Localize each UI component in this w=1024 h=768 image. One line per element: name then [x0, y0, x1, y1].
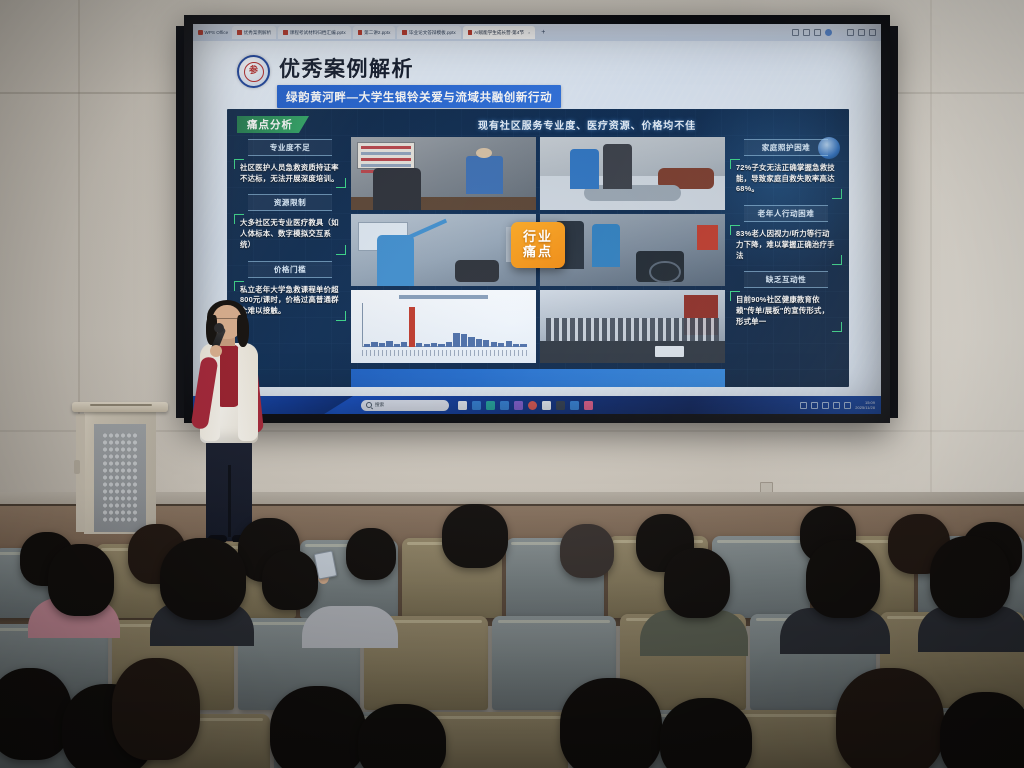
panel-headline: 现有社区服务专业度、医疗资源、价格均不佳 [377, 117, 797, 132]
wps-app-label: WPS Office [205, 30, 229, 35]
pain-point-text: 72%子女无法正确掌握急救技能，导致家庭自救失败率高达68%。 [730, 159, 842, 199]
industry-pain-point-badge: 行业 痛点 [511, 222, 565, 268]
mosaic-photo-bedside [540, 137, 725, 210]
audience-head [560, 524, 614, 578]
audience-head [112, 658, 200, 760]
audience-shoulders [302, 606, 398, 648]
audience-head [560, 678, 662, 768]
pain-point-block: 老年人行动困难 83%老人因视力/听力等行动力下降，难以掌握正确治疗手法 [730, 205, 842, 265]
presentation-file-icon [358, 30, 363, 35]
right-point-column: 家庭照护困难 72%子女无法正确掌握急救技能，导致家庭自救失败率高达68%。 老… [730, 137, 842, 387]
new-tab-button[interactable]: + [537, 29, 549, 36]
lectern-top [72, 402, 168, 412]
audience-head [806, 540, 880, 618]
search-placeholder: 搜索 [375, 402, 384, 408]
audience-head [442, 504, 508, 568]
wps-tab-label: 优秀案例解析 [244, 30, 272, 36]
photo-mosaic-column: 行业 痛点 [351, 137, 725, 387]
search-icon [366, 402, 372, 408]
pain-point-text: 大多社区无专业医疗教具（如人体标本、数字模拟交互系统） [234, 214, 346, 254]
chart-x-labels [362, 350, 527, 356]
pain-point-block: 家庭照护困难 72%子女无法正确掌握急救技能，导致家庭自救失败率高达68%。 [730, 139, 842, 199]
presenter-vest-right [238, 345, 258, 441]
photo-trainer [377, 235, 414, 286]
slide-header: 参 优秀案例解析 绿韵黄河畔—大学生银铃关爱与流域共融创新行动 [193, 41, 881, 103]
wps-icon[interactable] [486, 401, 495, 410]
audience-head [48, 544, 114, 616]
mosaic-photo-wheelchair [540, 214, 725, 287]
mosaic-photo-auditorium [540, 290, 725, 363]
wps-tab-label: 毕业论文答辩模板.pptx [409, 30, 456, 36]
audience-head [262, 550, 318, 610]
pain-point-text: 社区医护人员急救资质持证率不达标，无法开展深度培训。 [234, 159, 346, 188]
audience-head [160, 538, 246, 620]
badge-line-1: 行业 [523, 230, 553, 244]
chart-bars [364, 305, 527, 347]
lecture-hall-photo: WPS Office 优秀案例解析 课程考试材料归档汇编.pptx 第二讲2.p… [0, 0, 1024, 768]
wps-tab-4-active[interactable]: AI赋能学生成长营·第4节 × [463, 26, 536, 39]
app-icon[interactable] [584, 401, 593, 410]
displayed-desktop: WPS Office 优秀案例解析 课程考试材料归档汇编.pptx 第二讲2.p… [193, 24, 881, 414]
edge-icon[interactable] [472, 401, 481, 410]
close-tab-icon[interactable]: × [528, 30, 530, 35]
photo-manikin [455, 260, 499, 282]
seal-inner-text: 参 [244, 62, 264, 82]
photo-banner [697, 225, 717, 250]
cloud-sync-icon[interactable] [803, 29, 810, 36]
pain-point-text: 83%老人因视力/听力等行动力下降，难以掌握正确治疗手法 [730, 225, 842, 265]
window-control-group [792, 29, 881, 36]
account-avatar-icon[interactable] [825, 29, 832, 36]
presentation-file-icon [237, 30, 242, 35]
audience-head [0, 668, 72, 760]
pain-point-block: 缺乏互动性 目前90%社区健康教育依赖"传单/展板"的宣传形式，形式单一 [730, 271, 842, 331]
close-icon[interactable] [869, 29, 876, 36]
settings-icon[interactable] [814, 29, 821, 36]
microphone-head [214, 323, 224, 333]
clock-date: 2025/11/28 [855, 405, 875, 410]
photo-patient [373, 168, 421, 210]
presenter-hand [210, 345, 222, 357]
volume-icon[interactable] [833, 402, 840, 409]
badge-line-2: 痛点 [523, 245, 553, 259]
slide-title: 优秀案例解析 [279, 53, 414, 83]
chart-y-axis [362, 303, 363, 347]
photo-caregiver [603, 144, 633, 189]
audience-head [270, 686, 366, 768]
pain-point-label: 价格门槛 [248, 261, 332, 278]
chart-title-bar [399, 295, 488, 299]
cloud-icon[interactable] [822, 402, 829, 409]
photo-nurse [570, 149, 600, 190]
mosaic-photo-training [351, 214, 536, 287]
pain-point-label: 缺乏互动性 [744, 271, 828, 288]
wps-tab-label: 第二讲2.pptx [364, 30, 390, 36]
taskbar-clock[interactable]: 15:09 2025/11/28 [855, 400, 875, 410]
audience-head [358, 704, 446, 768]
pain-point-label: 老年人行动困难 [744, 205, 828, 222]
meeting-icon[interactable] [528, 401, 537, 410]
windows-taskbar: 搜索 15:09 [193, 396, 881, 414]
pain-point-block: 资源限制 大多社区无专业医疗教具（如人体标本、数字模拟交互系统） [234, 194, 346, 254]
wps-tab-bar: WPS Office 优秀案例解析 课程考试材料归档汇编.pptx 第二讲2.p… [193, 24, 881, 41]
audience-head [930, 536, 1010, 618]
lectern-top-slot [90, 404, 152, 406]
wps-tab-1[interactable]: 课程考试材料归档汇编.pptx [278, 26, 350, 39]
wps-tab-3[interactable]: 毕业论文答辩模板.pptx [397, 26, 460, 39]
photos-icon[interactable] [570, 401, 579, 410]
pain-point-block: 专业度不足 社区医护人员急救资质持证率不达标，无法开展深度培训。 [234, 139, 346, 188]
audience-head [660, 698, 752, 768]
audience-head [836, 668, 944, 768]
presentation-slide: 参 优秀案例解析 绿韵黄河畔—大学生银铃关爱与流域共融创新行动 痛点分析 现有社… [193, 41, 881, 396]
mail-icon[interactable] [542, 401, 551, 410]
wps-tab-0[interactable]: 优秀案例解析 [232, 26, 276, 39]
photo-doctor [466, 156, 503, 194]
pain-point-label: 专业度不足 [248, 139, 332, 156]
note-icon[interactable] [556, 401, 565, 410]
pain-point-text: 目前90%社区健康教育依赖"传单/展板"的宣传形式，形式单一 [730, 291, 842, 331]
slide-content-panel: 痛点分析 现有社区服务专业度、医疗资源、价格均不佳 专业度不足 社区医护人员急救… [227, 109, 849, 387]
mosaic-footer-bar [351, 369, 725, 387]
pain-point-label: 家庭照护困难 [744, 139, 828, 156]
network-icon[interactable] [811, 402, 818, 409]
photo-attendees [546, 318, 720, 343]
presentation-file-icon [283, 30, 288, 35]
audience-head [346, 528, 396, 580]
photo-table [540, 341, 725, 363]
pain-point-label: 资源限制 [248, 194, 332, 211]
photo-wheel [649, 261, 681, 284]
slide-subtitle: 绿韵黄河畔—大学生银铃关爱与流域共融创新行动 [277, 85, 561, 108]
taskbar-icon-group [458, 401, 593, 410]
file-explorer-icon[interactable] [458, 401, 467, 410]
wps-tab-label: 课程考试材料归档汇编.pptx [290, 30, 346, 36]
minimize-icon[interactable] [847, 29, 854, 36]
wps-office-logo[interactable]: WPS Office [193, 24, 232, 41]
lectern-knob [74, 460, 80, 474]
restore-icon[interactable] [858, 29, 865, 36]
photo-volunteer [592, 224, 620, 268]
wps-tab-label: AI赋能学生成长营·第4节 [474, 30, 524, 36]
panel-body: 专业度不足 社区医护人员急救资质持证率不达标，无法开展深度培训。 资源限制 大多… [227, 137, 849, 387]
share-icon[interactable] [792, 29, 799, 36]
audience-area [0, 486, 1024, 768]
audience-head [664, 548, 730, 618]
taskbar-system-tray: 15:09 2025/11/28 [800, 400, 881, 410]
browser-icon[interactable] [514, 401, 523, 410]
university-seal-icon: 参 [237, 55, 270, 88]
audience-head [940, 692, 1024, 768]
photo-laptop [655, 346, 685, 358]
section-badge: 痛点分析 [237, 116, 309, 133]
qq-icon[interactable] [500, 401, 509, 410]
presentation-file-icon [468, 30, 473, 35]
battery-icon[interactable] [844, 402, 851, 409]
mosaic-photo-clinic [351, 137, 536, 210]
wps-tab-2[interactable]: 第二讲2.pptx [353, 26, 396, 39]
chevron-up-icon[interactable] [800, 402, 807, 409]
taskbar-search-box[interactable]: 搜索 [361, 400, 449, 411]
mosaic-photo-chart [351, 290, 536, 363]
presentation-file-icon [402, 30, 407, 35]
photo-wallboard [358, 143, 414, 168]
wps-mark-icon [198, 30, 203, 35]
